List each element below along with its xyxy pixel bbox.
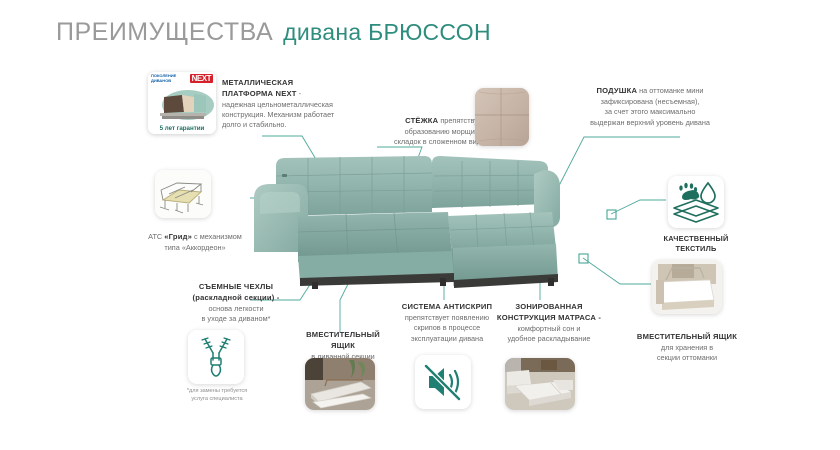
callout-platform-next-line2: конструкция. Механизм работает [222, 110, 334, 119]
badge-warranty-text: 5 лет гарантии [148, 122, 216, 134]
callout-zoned-mattress-line2: удобное раскладывание [508, 334, 591, 343]
callout-pillow-line2: зафиксирована (несъемная), [601, 97, 700, 106]
corner-sofa-illustration [252, 152, 622, 297]
callout-quality-textile-line2: ТЕКСТИЛЬ [676, 244, 717, 253]
sofa-storage-box-photo [305, 358, 375, 410]
footnote-line-2: услуга специалиста [191, 396, 242, 402]
callout-ottoman-storage: ВМЕСТИТЕЛЬНЫЙ ЯЩИК для хранения в секции… [632, 332, 742, 364]
callout-zoned-mattress-line1: комфортный сон и [518, 324, 581, 333]
infographic-page: ПРЕИМУЩЕСТВА дивана БРЮССОН [0, 0, 840, 450]
callout-ottoman-storage-line1: для хранения в [661, 343, 713, 352]
callout-quality-textile: КАЧЕСТВЕННЫЙ ТЕКСТИЛЬ [650, 234, 742, 254]
callout-ottoman-storage-line2: секции оттоманки [657, 353, 717, 362]
callout-pillow-line1: на оттоманке мини [637, 86, 703, 95]
next-warranty-badge: Поколение диванов NEXT 5 лет гарантии [148, 72, 216, 134]
callout-sofa-storage-heading: ВМЕСТИТЕЛЬНЫЙ ЯЩИК [306, 330, 380, 350]
callout-quality-textile-line1: КАЧЕСТВЕННЫЙ [664, 234, 729, 243]
mute-icon-tile [415, 355, 471, 409]
callout-pillow-line4: выдержан верхний уровень дивана [590, 118, 710, 127]
badge-brand-text: Поколение диванов [151, 74, 176, 82]
paw-droplet-fabric-icon [668, 176, 724, 228]
callout-grid-frame: АТС «Грид» с механизмом типа «Аккордеон» [140, 232, 250, 253]
zipper-icon [188, 330, 244, 384]
callout-grid-frame-line1: с механизмом [192, 232, 242, 241]
badge-header: Поколение диванов NEXT [148, 72, 216, 85]
callout-stitching: СТЁЖКА препятствует образованию морщин и… [375, 116, 485, 148]
footnote-line-1: *для замены требуется [187, 388, 247, 394]
callout-grid-frame-line2: типа «Аккордеон» [164, 243, 225, 252]
callout-anti-squeak-line1: препятствует появлению [405, 313, 489, 322]
quilted-cushion-photo [475, 88, 529, 146]
armchair-photo-icon [148, 85, 216, 122]
zipper-icon-tile [188, 330, 244, 384]
callout-grid-frame-prefix: АТС [148, 232, 164, 241]
callout-zoned-mattress-heading2: КОНСТРУКЦИЯ МАТРАСА - [497, 313, 601, 322]
sofa-frame-photo [155, 170, 211, 218]
callout-platform-next-line1: надежная цельнометаллическая [222, 100, 333, 109]
mute-speaker-icon [415, 355, 471, 409]
callout-stitching-line2: образованию морщин и [405, 127, 485, 136]
page-title-accent: дивана БРЮССОН [283, 19, 491, 46]
badge-next-mark: NEXT [190, 74, 213, 83]
callout-zoned-mattress-heading1: ЗОНИРОВАННАЯ [515, 302, 582, 311]
callout-removable-covers-line2: основа легкости [208, 304, 263, 313]
callout-platform-next-dash: - [297, 89, 301, 98]
callout-stitching-line3: складок в сложенном виде [394, 137, 485, 146]
ottoman-storage-box-photo [652, 260, 722, 314]
textile-icon-tile [668, 176, 724, 228]
callout-anti-squeak-heading: СИСТЕМА АНТИСКРИП [402, 302, 492, 311]
callout-ottoman-storage-heading: ВМЕСТИТЕЛЬНЫЙ ЯЩИК [637, 332, 737, 341]
callout-pillow-line3: за счет этого максимально [605, 107, 696, 116]
callout-zoned-mattress: ЗОНИРОВАННАЯ КОНСТРУКЦИЯ МАТРАСА - комфо… [494, 302, 604, 344]
callout-platform-next-heading2: ПЛАТФОРМА NEXT [222, 89, 297, 98]
callout-anti-squeak-line3: эксплуатации дивана [411, 334, 483, 343]
callout-pillow: ПОДУШКА на оттоманке мини зафиксирована … [566, 86, 734, 128]
callout-stitching-heading: СТЁЖКА [405, 116, 438, 125]
callout-platform-next: МЕТАЛЛИЧЕСКАЯ ПЛАТФОРМА NEXT - надежная … [222, 78, 362, 131]
page-title-main: ПРЕИМУЩЕСТВА [56, 18, 273, 47]
callout-pillow-heading: ПОДУШКА [596, 86, 637, 95]
page-title: ПРЕИМУЩЕСТВА дивана БРЮССОН [56, 18, 491, 47]
callout-anti-squeak: СИСТЕМА АНТИСКРИП препятствует появлению… [398, 302, 496, 344]
removable-covers-footnote: *для замены требуется услуга специалиста [182, 388, 252, 404]
callout-anti-squeak-line2: скрипов в процессе [414, 323, 480, 332]
callout-platform-next-line3: долго и стабильно. [222, 120, 287, 129]
badge-brand-line-2: диванов [151, 79, 176, 83]
callout-grid-frame-heading: «Грид» [164, 232, 192, 241]
unfolded-sofa-bed-photo [505, 358, 575, 410]
callout-removable-covers-line3: в уходе за диваном* [202, 314, 271, 323]
callout-platform-next-heading1: МЕТАЛЛИЧЕСКАЯ [222, 78, 293, 87]
